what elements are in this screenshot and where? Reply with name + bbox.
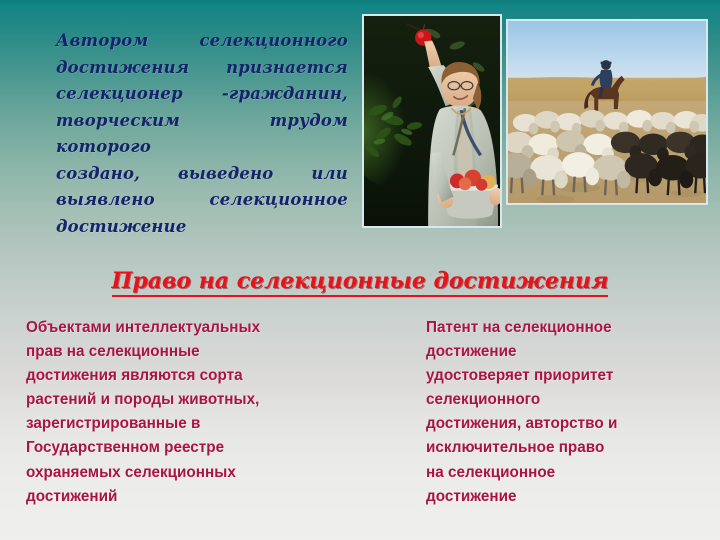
left-line-6: Государственном реестре <box>26 436 356 460</box>
body-column-right: Патент на селекционное достижение удосто… <box>426 316 711 509</box>
intro-line-1: Автором селекционного <box>56 28 348 55</box>
intro-line-2: достижения признается <box>56 55 348 82</box>
body-column-left: Объектами интеллектуальных прав на селек… <box>26 316 356 509</box>
presentation-slide: Автором селекционного достижения признае… <box>0 0 720 540</box>
steppe-flock-illustration <box>508 21 706 203</box>
left-line-8: достижений <box>26 485 356 509</box>
left-line-3: достижения являются сорта <box>26 364 356 388</box>
left-line-5: зарегистрированные в <box>26 412 356 436</box>
intro-line-3: селекционер -гражданин, <box>56 81 348 108</box>
intro-line-6: выявлено селекционное <box>56 187 348 214</box>
right-line-7: на селекционное <box>426 461 711 485</box>
left-line-4: растений и породы животных, <box>26 388 356 412</box>
photo-shepherd-with-sheep <box>506 19 708 205</box>
right-line-6: исключительное право <box>426 436 711 460</box>
right-line-8: достижение <box>426 485 711 509</box>
right-line-3: удостоверяет приоритет <box>426 364 711 388</box>
right-line-4: селекционного <box>426 388 711 412</box>
apple-orchard-illustration <box>364 16 500 226</box>
intro-line-7: достижение <box>56 214 348 241</box>
left-line-2: прав на селекционные <box>26 340 356 364</box>
intro-line-4: творческим трудом которого <box>56 108 348 161</box>
intro-paragraph: Автором селекционного достижения признае… <box>56 28 348 240</box>
left-line-1: Объектами интеллектуальных <box>26 316 356 340</box>
right-line-2: достижение <box>426 340 711 364</box>
intro-line-5: создано, выведено или <box>56 161 348 188</box>
left-line-7: охраняемых селекционных <box>26 461 356 485</box>
photo-woman-picking-apples <box>362 14 502 228</box>
right-line-1: Патент на селекционное <box>426 316 711 340</box>
right-line-5: достижения, авторство и <box>426 412 711 436</box>
section-heading: Право на селекционные достижения <box>0 268 720 297</box>
section-heading-text: Право на селекционные достижения <box>112 268 609 297</box>
